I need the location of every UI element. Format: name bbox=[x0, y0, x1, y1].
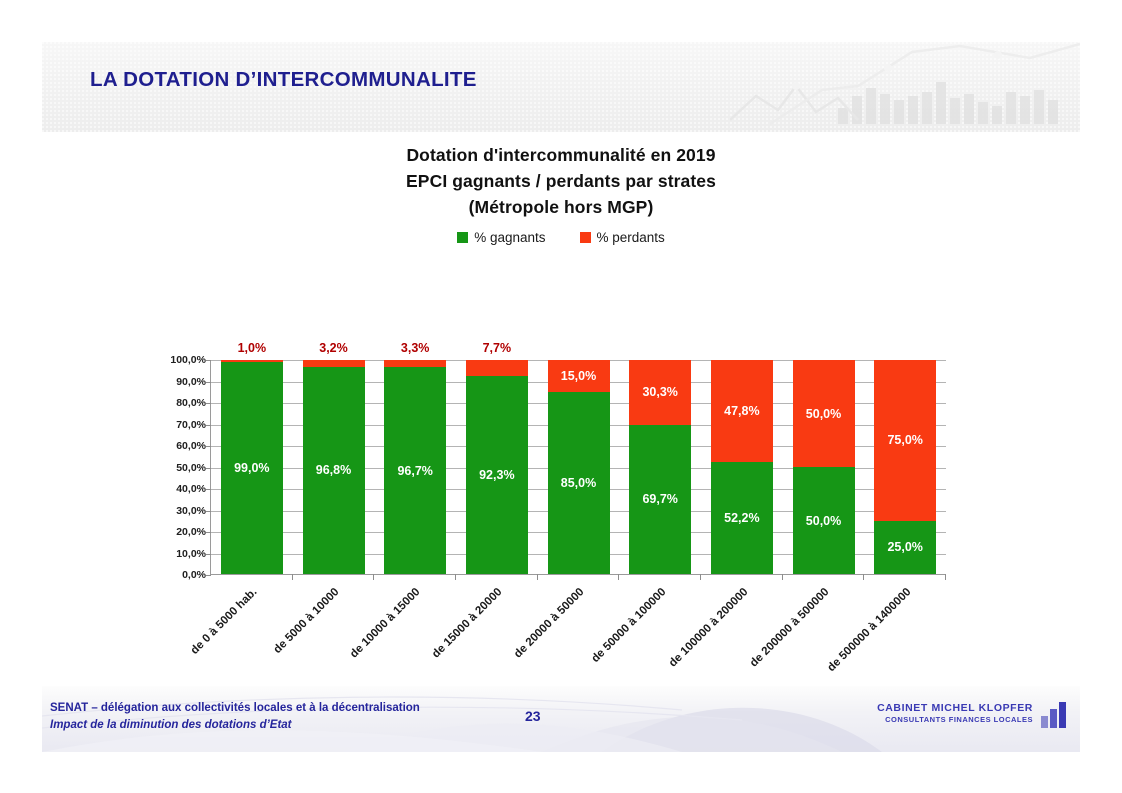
bar-segment-perdants[interactable]: 75,0% bbox=[874, 360, 936, 521]
bar-label-perdants: 15,0% bbox=[548, 369, 610, 383]
bar-slot: 75,0%25,0% bbox=[864, 360, 946, 574]
bar-label-gagnants: 85,0% bbox=[548, 476, 610, 490]
y-axis-tick-label: 50,0% bbox=[140, 462, 206, 474]
bar-slot: 47,8%52,2% bbox=[701, 360, 783, 574]
page-title: LA DOTATION D’INTERCOMMUNALITE bbox=[90, 68, 477, 92]
legend-item-gagnants: % gagnants bbox=[457, 230, 545, 245]
x-axis-tick bbox=[863, 574, 864, 580]
y-axis-tick-label: 0,0% bbox=[140, 569, 206, 581]
x-axis-tick bbox=[537, 574, 538, 580]
bar-segment-perdants[interactable]: 7,7% bbox=[466, 360, 528, 376]
stacked-bar[interactable]: 3,3%96,7% bbox=[384, 360, 446, 574]
bar-segment-perdants[interactable]: 3,3% bbox=[384, 360, 446, 367]
bar-label-gagnants: 69,7% bbox=[629, 492, 691, 506]
bar-label-gagnants: 96,8% bbox=[303, 463, 365, 477]
bar-segment-gagnants[interactable]: 96,8% bbox=[303, 367, 365, 574]
bar-chart-watermark-icon bbox=[730, 42, 1080, 132]
stacked-bar[interactable]: 7,7%92,3% bbox=[466, 360, 528, 574]
bar-label-perdants: 75,0% bbox=[874, 433, 936, 447]
bar-segment-gagnants[interactable]: 92,3% bbox=[466, 376, 528, 574]
stacked-bar[interactable]: 15,0%85,0% bbox=[548, 360, 610, 574]
chart-title: Dotation d'intercommunalité en 2019 EPCI… bbox=[42, 142, 1080, 220]
x-axis-tick bbox=[945, 574, 946, 580]
bar-segment-perdants[interactable]: 47,8% bbox=[711, 360, 773, 462]
stacked-bar[interactable]: 75,0%25,0% bbox=[874, 360, 936, 574]
logo-name: CABINET MICHEL KLOPFER bbox=[877, 702, 1033, 714]
chart-container: Dotation d'intercommunalité en 2019 EPCI… bbox=[42, 142, 1080, 682]
bar-label-gagnants: 52,2% bbox=[711, 511, 773, 525]
chart-title-line-2: EPCI gagnants / perdants par strates bbox=[42, 168, 1080, 194]
footer-line-1: SENAT – délégation aux collectivités loc… bbox=[50, 700, 420, 717]
y-axis-tick-label: 90,0% bbox=[140, 376, 206, 388]
slide-header: LA DOTATION D’INTERCOMMUNALITE bbox=[42, 42, 1080, 132]
x-axis-tick bbox=[782, 574, 783, 580]
bar-segment-gagnants[interactable]: 85,0% bbox=[548, 392, 610, 574]
plot-area: 0,0%10,0%20,0%30,0%40,0%50,0%60,0%70,0%8… bbox=[140, 260, 1050, 460]
bar-label-gagnants: 50,0% bbox=[793, 514, 855, 528]
bar-segment-gagnants[interactable]: 69,7% bbox=[629, 425, 691, 574]
y-axis-tick-label: 40,0% bbox=[140, 483, 206, 495]
y-axis-tick-label: 20,0% bbox=[140, 526, 206, 538]
bar-label-perdants: 1,0% bbox=[221, 341, 283, 355]
y-axis-tick bbox=[206, 575, 211, 576]
bar-label-gagnants: 99,0% bbox=[221, 461, 283, 475]
y-axis-tick-label: 80,0% bbox=[140, 397, 206, 409]
bar-segment-gagnants[interactable]: 25,0% bbox=[874, 521, 936, 575]
bar-slot: 30,3%69,7% bbox=[619, 360, 701, 574]
bar-segment-perdants[interactable]: 15,0% bbox=[548, 360, 610, 392]
x-axis-tick bbox=[618, 574, 619, 580]
bar-segment-perdants[interactable]: 30,3% bbox=[629, 360, 691, 425]
stacked-bar[interactable]: 30,3%69,7% bbox=[629, 360, 691, 574]
y-axis-tick-label: 10,0% bbox=[140, 548, 206, 560]
legend-item-perdants: % perdants bbox=[580, 230, 665, 245]
y-axis-tick-label: 30,0% bbox=[140, 505, 206, 517]
bar-slot: 50,0%50,0% bbox=[783, 360, 865, 574]
bar-label-perdants: 3,2% bbox=[303, 341, 365, 355]
x-axis-category-label: de 0 à 5000 hab. bbox=[189, 586, 260, 657]
chart-title-line-1: Dotation d'intercommunalité en 2019 bbox=[42, 142, 1080, 168]
chart-legend: % gagnants % perdants bbox=[42, 230, 1080, 245]
y-axis-labels: 0,0%10,0%20,0%30,0%40,0%50,0%60,0%70,0%8… bbox=[140, 360, 206, 575]
x-axis-tick bbox=[292, 574, 293, 580]
bar-slot: 15,0%85,0% bbox=[538, 360, 620, 574]
x-axis-tick bbox=[455, 574, 456, 580]
bar-label-perdants: 50,0% bbox=[793, 407, 855, 421]
chart-title-line-3: (Métropole hors MGP) bbox=[42, 194, 1080, 220]
company-logo: CABINET MICHEL KLOPFER CONSULTANTS FINAN… bbox=[877, 702, 1066, 728]
logo-bars-icon bbox=[1041, 702, 1066, 728]
bar-series: 1,0%99,0%3,2%96,8%3,3%96,7%7,7%92,3%15,0… bbox=[211, 360, 946, 574]
x-axis-tick bbox=[373, 574, 374, 580]
stacked-bar[interactable]: 47,8%52,2% bbox=[711, 360, 773, 574]
y-axis-tick-label: 100,0% bbox=[140, 354, 206, 366]
legend-swatch-green bbox=[457, 232, 468, 243]
page-number: 23 bbox=[525, 708, 541, 724]
stacked-bar[interactable]: 3,2%96,8% bbox=[303, 360, 365, 574]
legend-label-gagnants: % gagnants bbox=[474, 230, 545, 245]
bar-label-gagnants: 96,7% bbox=[384, 464, 446, 478]
bar-segment-gagnants[interactable]: 50,0% bbox=[793, 467, 855, 574]
bar-slot: 3,2%96,8% bbox=[293, 360, 375, 574]
legend-swatch-red bbox=[580, 232, 591, 243]
bar-label-perdants: 30,3% bbox=[629, 385, 691, 399]
y-axis-tick-label: 70,0% bbox=[140, 419, 206, 431]
logo-subtitle: CONSULTANTS FINANCES LOCALES bbox=[877, 714, 1033, 726]
bar-segment-gagnants[interactable]: 99,0% bbox=[221, 362, 283, 574]
logo-text: CABINET MICHEL KLOPFER CONSULTANTS FINAN… bbox=[877, 702, 1033, 728]
footer-line-2: Impact de la diminution des dotations d’… bbox=[50, 717, 420, 734]
slide-footer: SENAT – délégation aux collectivités loc… bbox=[42, 686, 1080, 752]
bar-label-gagnants: 25,0% bbox=[874, 540, 936, 554]
stacked-bar[interactable]: 1,0%99,0% bbox=[221, 360, 283, 574]
x-axis-tick bbox=[700, 574, 701, 580]
footer-text: SENAT – délégation aux collectivités loc… bbox=[50, 700, 420, 734]
slide: LA DOTATION D’INTERCOMMUNALITE Dotation … bbox=[42, 42, 1080, 752]
bar-label-gagnants: 92,3% bbox=[466, 468, 528, 482]
bar-label-perdants: 7,7% bbox=[466, 341, 528, 355]
y-axis-tick-label: 60,0% bbox=[140, 440, 206, 452]
bar-segment-gagnants[interactable]: 96,7% bbox=[384, 367, 446, 574]
legend-label-perdants: % perdants bbox=[597, 230, 665, 245]
bar-slot: 1,0%99,0% bbox=[211, 360, 293, 574]
bar-segment-gagnants[interactable]: 52,2% bbox=[711, 462, 773, 574]
bar-slot: 7,7%92,3% bbox=[456, 360, 538, 574]
plot-canvas: 1,0%99,0%3,2%96,8%3,3%96,7%7,7%92,3%15,0… bbox=[210, 360, 946, 575]
bar-segment-perdants[interactable]: 3,2% bbox=[303, 360, 365, 367]
bar-segment-perdants[interactable]: 50,0% bbox=[793, 360, 855, 467]
bar-slot: 3,3%96,7% bbox=[374, 360, 456, 574]
stacked-bar[interactable]: 50,0%50,0% bbox=[793, 360, 855, 574]
bar-label-perdants: 47,8% bbox=[711, 404, 773, 418]
bar-label-perdants: 3,3% bbox=[384, 341, 446, 355]
